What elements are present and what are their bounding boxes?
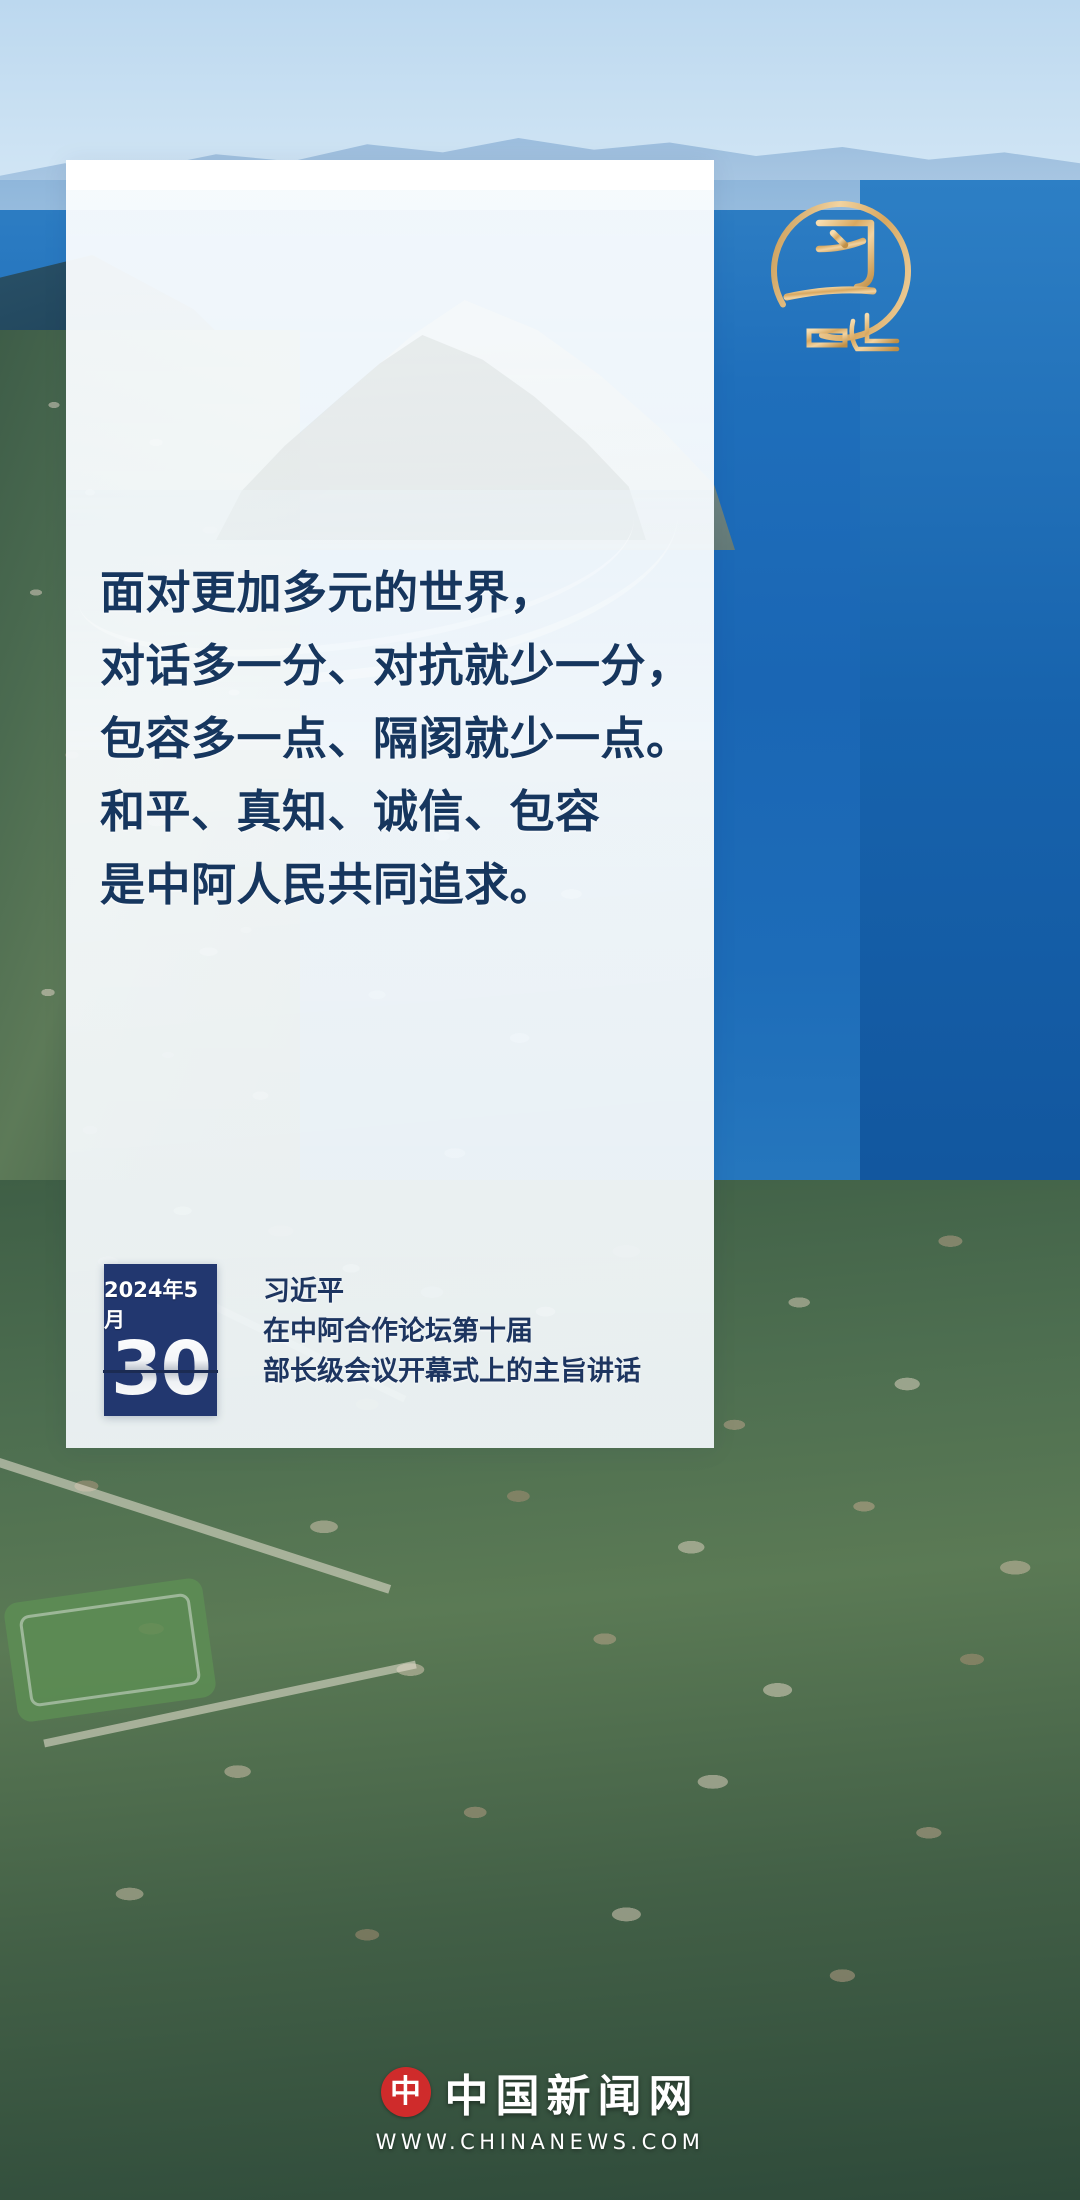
chinanews-logo-icon: 中	[381, 2067, 431, 2117]
quote-line-5: 是中阿人民共同追求。	[100, 848, 700, 921]
attribution-line-3: 部长级会议开幕式上的主旨讲话	[263, 1352, 641, 1392]
attribution-block: 习近平 在中阿合作论坛第十届 部长级会议开幕式上的主旨讲话	[263, 1264, 641, 1392]
logo-char: 中	[390, 2077, 421, 2108]
quote-line-3: 包容多一点、隔阂就少一点。	[100, 702, 700, 775]
site-name: 中国新闻网	[445, 2060, 700, 2124]
attribution-line-2: 在中阿合作论坛第十届	[263, 1312, 641, 1352]
date-day: 30	[111, 1332, 210, 1407]
card-top-white-band	[66, 160, 714, 190]
footer-row: 2024年5月 30 习近平 在中阿合作论坛第十届 部长级会议开幕式上的主旨讲话	[104, 1264, 724, 1416]
quote-line-4: 和平、真知、诚信、包容	[100, 775, 700, 848]
attribution-speaker: 习近平	[263, 1272, 641, 1312]
quote-line-1: 面对更加多元的世界，	[100, 556, 700, 629]
xi-yan-dao-seal-icon	[745, 175, 937, 367]
chinanews-watermark: 中 中国新闻网 WWW.CHINANEWS.COM	[0, 2060, 1080, 2154]
quote-line-2: 对话多一分、对抗就少一分，	[100, 629, 700, 702]
date-badge: 2024年5月 30	[104, 1264, 217, 1416]
site-url: WWW.CHINANEWS.COM	[376, 2130, 705, 2154]
watermark-row: 中 中国新闻网	[381, 2060, 700, 2124]
quote-text: 面对更加多元的世界， 对话多一分、对抗就少一分， 包容多一点、隔阂就少一点。 和…	[100, 556, 700, 921]
date-year-month: 2024年5月	[104, 1274, 217, 1334]
poster-root: 面对更加多元的世界， 对话多一分、对抗就少一分， 包容多一点、隔阂就少一点。 和…	[0, 0, 1080, 2200]
